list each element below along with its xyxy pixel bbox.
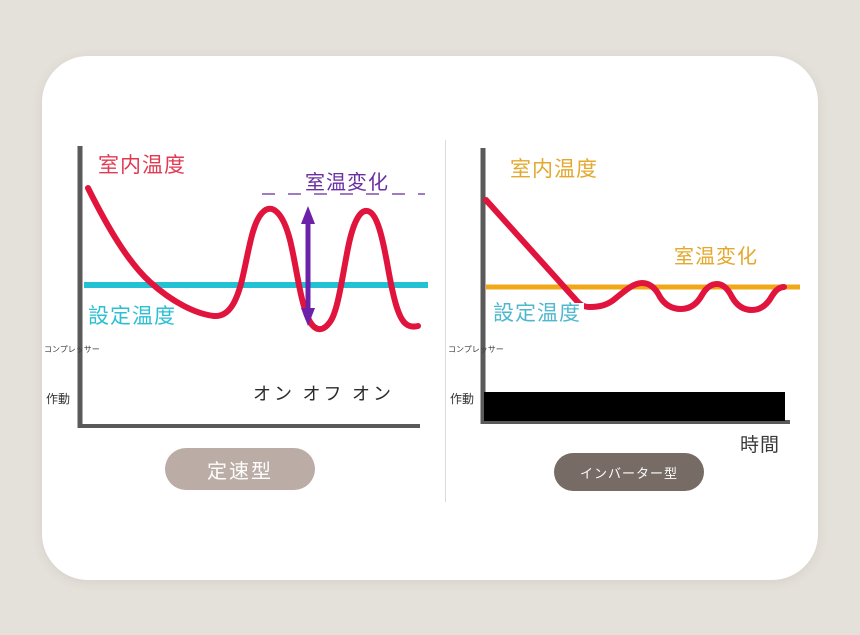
screenshot-root: 室内温度 室温変化 設定温度 コンプレッサー 作動 オン オフ オン 定速型 室… — [0, 0, 860, 635]
right-room-temp-change-label: 室温変化 — [671, 247, 761, 267]
right-set-temp-label: 設定温度 — [490, 303, 584, 324]
inverter-button-label: インバーター型 — [580, 463, 678, 482]
right-operation-label: 作動 — [450, 390, 474, 407]
right-compressor-continuous-bar — [484, 392, 785, 421]
right-indoor-temp-label: 室内温度 — [510, 159, 598, 180]
right-chart — [0, 0, 860, 635]
time-axis-label: 時間 — [740, 430, 780, 457]
right-compressor-label: コンプレッサー — [448, 344, 504, 355]
inverter-button[interactable]: インバーター型 — [554, 453, 704, 491]
